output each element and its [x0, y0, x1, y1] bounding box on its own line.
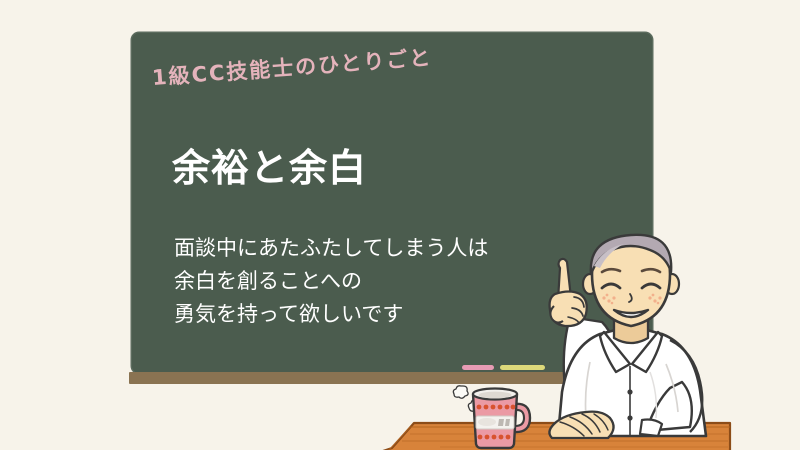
body-line-2: 余白を創ることへの [174, 265, 488, 298]
coffee-mug [468, 388, 538, 450]
pink-chalk-stick [462, 365, 494, 370]
screenshot-canvas: 1級CC技能士のひとりごと 余裕と余白 面談中にあたふたしてしまう人は 余白を創… [0, 0, 800, 450]
body-line-3: 勇気を持って欲しいです [174, 298, 488, 331]
pointing-hand [550, 259, 587, 326]
body-copy: 面談中にあたふたしてしまう人は 余白を創ることへの 勇気を持って欲しいです [174, 232, 488, 331]
body-line-1: 面談中にあたふたしてしまう人は [174, 232, 488, 265]
smiling-man-pointing-up [530, 222, 760, 450]
face [591, 235, 671, 326]
headline-title: 余裕と余白 [172, 137, 367, 192]
